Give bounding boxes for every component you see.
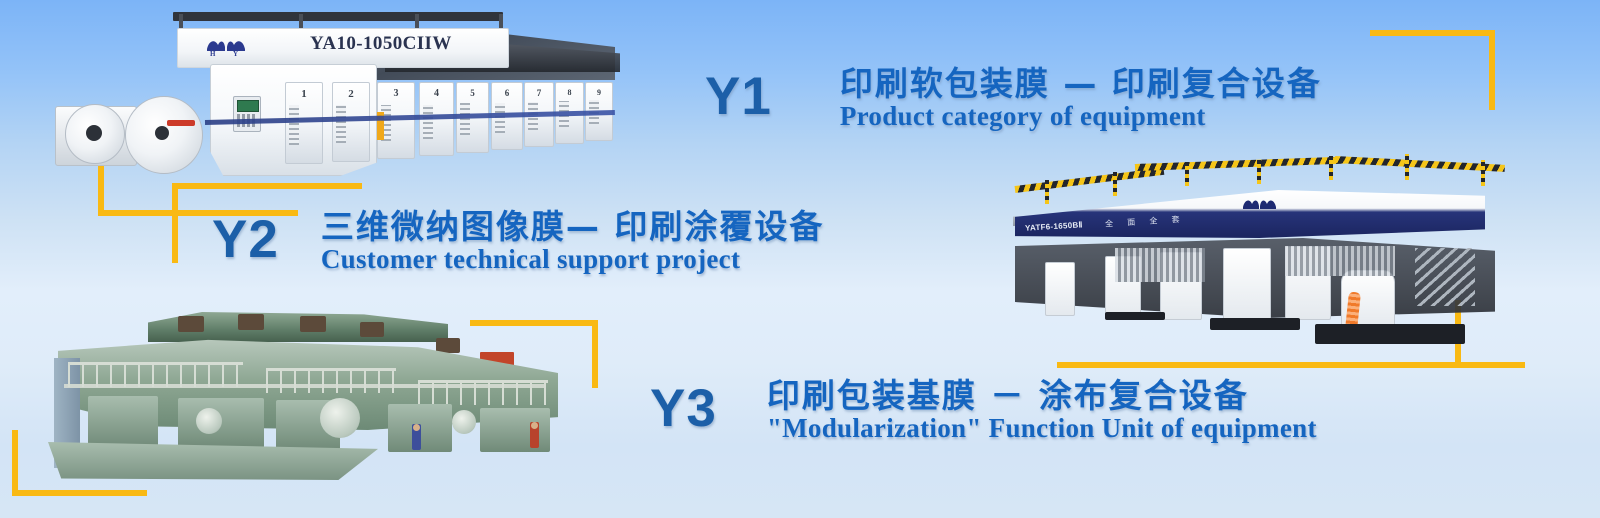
- laminator-rail-post: [1481, 160, 1485, 186]
- laminator-cabinet: [1223, 248, 1271, 320]
- coater-motor: [238, 314, 264, 330]
- print-unit-number: 1: [286, 88, 322, 100]
- bracket-top-right: [1370, 30, 1495, 110]
- hy-brand-logo-icon: H Y: [203, 36, 249, 56]
- laminator-roller-assembly: [1285, 246, 1395, 276]
- row-english-y2: Customer technical support project: [321, 245, 825, 273]
- laminator-rail-post: [1113, 172, 1117, 196]
- laminator-base-plinth: [1105, 312, 1165, 320]
- laminator-base-plinth: [1315, 324, 1465, 344]
- worker-head: [413, 424, 420, 431]
- row-code-y3: Y3: [650, 382, 717, 435]
- print-unit-number: 5: [457, 88, 488, 98]
- press-reel-hub: [86, 125, 102, 141]
- headline-row-y1: Y1 印刷软包装膜 — 印刷复合设备 Product category of e…: [705, 70, 1322, 130]
- laminator-rail-post: [1257, 160, 1261, 184]
- row-chinese-y1: 印刷软包装膜 — 印刷复合设备: [840, 66, 1322, 102]
- laminator-rail-post: [1185, 162, 1189, 186]
- coater-section: [88, 396, 158, 448]
- print-unit-number: 4: [420, 88, 453, 99]
- print-unit-number: 8: [556, 88, 583, 97]
- row-chinese-y2: 三维微纳图像膜— 印刷涂覆设备: [321, 209, 825, 245]
- print-unit-number: 6: [492, 88, 522, 98]
- laminator-roller-assembly: [1115, 248, 1205, 282]
- print-unit-number: 2: [333, 88, 369, 100]
- headline-row-y3: Y3 印刷包装基膜 － 涂布复合设备 "Modularization" Func…: [650, 382, 1317, 442]
- coater-motor: [360, 322, 384, 337]
- laminator-base-plinth: [1210, 318, 1300, 330]
- laminator-safety-rail: [1335, 156, 1505, 172]
- coater-walkway-rail: [68, 362, 243, 387]
- press-web-guide: [167, 120, 195, 126]
- coater-section: [480, 408, 550, 452]
- print-unit-panel: [336, 105, 346, 143]
- coater-motor: [178, 316, 204, 332]
- coater-motor: [436, 338, 460, 353]
- coater-main-roller: [196, 408, 222, 434]
- laminator-safety-rail: [1015, 168, 1165, 193]
- print-unit-number: 3: [378, 88, 414, 99]
- print-unit-number: 7: [525, 88, 553, 98]
- press-hmi-screen: [237, 100, 259, 112]
- print-unit-panel: [460, 103, 470, 135]
- laminator-stair: [1415, 248, 1475, 306]
- svg-text:H: H: [210, 50, 216, 56]
- svg-text:Y: Y: [233, 50, 238, 56]
- press-print-unit: 1: [285, 82, 323, 164]
- print-unit-panel: [495, 103, 505, 133]
- press-operator-panel: [233, 96, 261, 132]
- press-reel-hub: [155, 126, 169, 140]
- coater-motor: [300, 316, 326, 332]
- row-code-y2: Y2: [212, 213, 279, 266]
- laminator-rail-post: [1405, 154, 1409, 180]
- machine-photo-gravure-press: H Y YA10-1050CIIW 1 2 3 4: [55, 8, 615, 180]
- coater-walkway-rail: [266, 368, 396, 393]
- row-english-y1: Product category of equipment: [840, 102, 1322, 130]
- laminator-brand-logo-icon: [1240, 196, 1278, 212]
- headline-row-y2: Y2 三维微纳图像膜— 印刷涂覆设备 Customer technical su…: [212, 213, 824, 273]
- laminator-rail-post: [1329, 156, 1333, 180]
- row-code-y1: Y1: [705, 70, 772, 123]
- print-unit-number: 9: [586, 88, 612, 97]
- coater-walkway-rail: [418, 380, 548, 405]
- coater-worker-blue: [412, 424, 421, 450]
- press-print-unit: 2: [332, 82, 370, 162]
- laminator-cabinet: [1045, 262, 1075, 316]
- row-chinese-y3: 印刷包装基膜 － 涂布复合设备: [767, 378, 1317, 414]
- press-roof: [173, 12, 503, 21]
- row-english-y3: "Modularization" Function Unit of equipm…: [767, 414, 1317, 442]
- press-model-label: YA10-1050CIIW: [310, 33, 452, 55]
- coater-worker-red: [530, 422, 539, 448]
- product-category-banner: H Y YA10-1050CIIW 1 2 3 4: [0, 0, 1600, 518]
- print-unit-panel: [289, 105, 299, 145]
- laminator-rail-post: [1045, 180, 1049, 204]
- coater-main-roller: [320, 398, 360, 438]
- worker-head: [531, 422, 538, 429]
- coater-main-roller: [452, 410, 476, 434]
- machine-photo-laminator: YATF6-1650BⅡ 全 面 全 套: [985, 152, 1515, 352]
- laminator-safety-rail: [1135, 157, 1345, 171]
- machine-photo-coating-line: [28, 312, 573, 484]
- print-unit-panel: [423, 105, 433, 139]
